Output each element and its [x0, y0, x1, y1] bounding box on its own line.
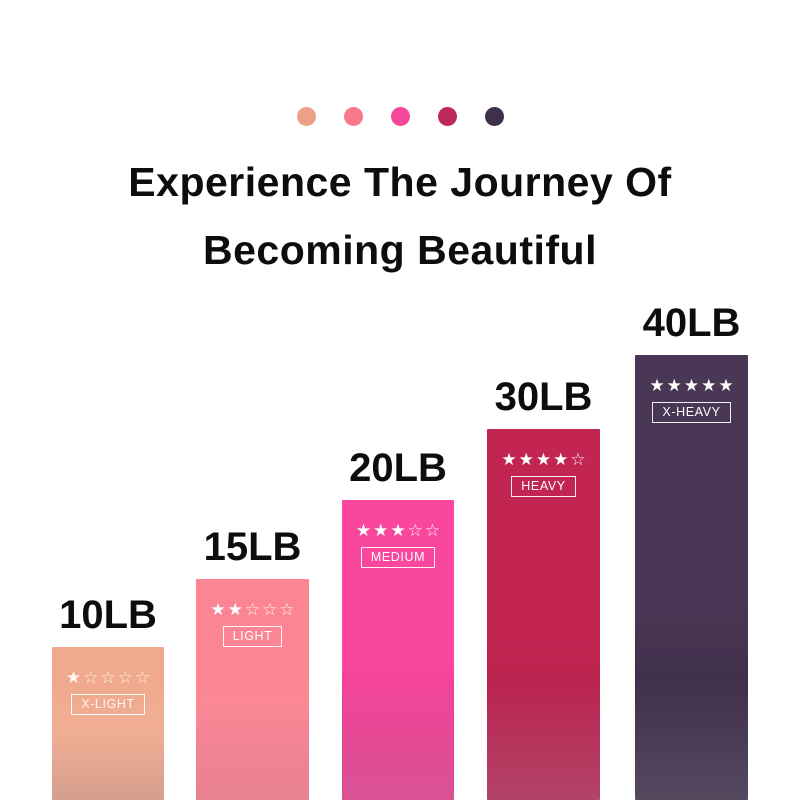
star-filled-icon: ★	[553, 451, 568, 468]
resistance-level-badge: X-HEAVY	[652, 402, 730, 423]
star-empty-icon: ☆	[425, 522, 440, 539]
bar-label-stack: ★★★★★X-HEAVY	[635, 377, 748, 423]
star-filled-icon: ★	[390, 522, 405, 539]
star-filled-icon: ★	[356, 522, 371, 539]
resistance-level-badge: HEAVY	[511, 476, 575, 497]
infographic-canvas: Experience The Journey Of Becoming Beaut…	[0, 0, 800, 800]
star-filled-icon: ★	[519, 451, 534, 468]
star-empty-icon: ☆	[279, 601, 294, 618]
bar-group[interactable]: ★★★☆☆MEDIUM20LB	[342, 500, 454, 800]
star-filled-icon: ★	[684, 377, 699, 394]
star-filled-icon: ★	[649, 377, 664, 394]
resistance-level-badge: LIGHT	[223, 626, 283, 647]
star-filled-icon: ★	[667, 377, 682, 394]
bar-label-stack: ★★☆☆☆LIGHT	[196, 601, 309, 647]
bar-weight-label: 40LB	[643, 303, 741, 343]
star-filled-icon: ★	[228, 601, 243, 618]
resistance-band-bar-chart: ★☆☆☆☆X-LIGHT10LB★★☆☆☆LIGHT15LB★★★☆☆MEDIU…	[0, 0, 800, 800]
star-empty-icon: ☆	[570, 451, 585, 468]
resistance-level-badge: MEDIUM	[361, 547, 435, 568]
bar-group[interactable]: ★★★★☆HEAVY30LB	[487, 429, 600, 800]
bar-weight-label: 15LB	[204, 527, 302, 567]
star-filled-icon: ★	[66, 669, 81, 686]
star-filled-icon: ★	[718, 377, 733, 394]
star-rating: ★☆☆☆☆	[66, 669, 150, 686]
star-empty-icon: ☆	[100, 669, 115, 686]
star-filled-icon: ★	[701, 377, 716, 394]
star-filled-icon: ★	[536, 451, 551, 468]
star-filled-icon: ★	[373, 522, 388, 539]
star-rating: ★★☆☆☆	[210, 601, 294, 618]
star-empty-icon: ☆	[135, 669, 150, 686]
star-rating: ★★★★☆	[501, 451, 585, 468]
star-empty-icon: ☆	[118, 669, 133, 686]
star-empty-icon: ☆	[83, 669, 98, 686]
bar-label-stack: ★★★☆☆MEDIUM	[342, 522, 454, 568]
star-rating: ★★★★★	[649, 377, 733, 394]
bar-weight-label: 10LB	[59, 595, 157, 635]
bar-group[interactable]: ★★☆☆☆LIGHT15LB	[196, 579, 309, 800]
star-rating: ★★★☆☆	[356, 522, 440, 539]
star-empty-icon: ☆	[408, 522, 423, 539]
resistance-level-badge: X-LIGHT	[71, 694, 145, 715]
star-filled-icon: ★	[501, 451, 516, 468]
star-empty-icon: ☆	[245, 601, 260, 618]
star-empty-icon: ☆	[262, 601, 277, 618]
star-filled-icon: ★	[210, 601, 225, 618]
bar-weight-label: 20LB	[349, 448, 447, 488]
bar-label-stack: ★☆☆☆☆X-LIGHT	[52, 669, 164, 715]
bar-weight-label: 30LB	[495, 377, 593, 417]
bar-group[interactable]: ★☆☆☆☆X-LIGHT10LB	[52, 647, 164, 800]
bar-label-stack: ★★★★☆HEAVY	[487, 451, 600, 497]
bar-group[interactable]: ★★★★★X-HEAVY40LB	[635, 355, 748, 800]
